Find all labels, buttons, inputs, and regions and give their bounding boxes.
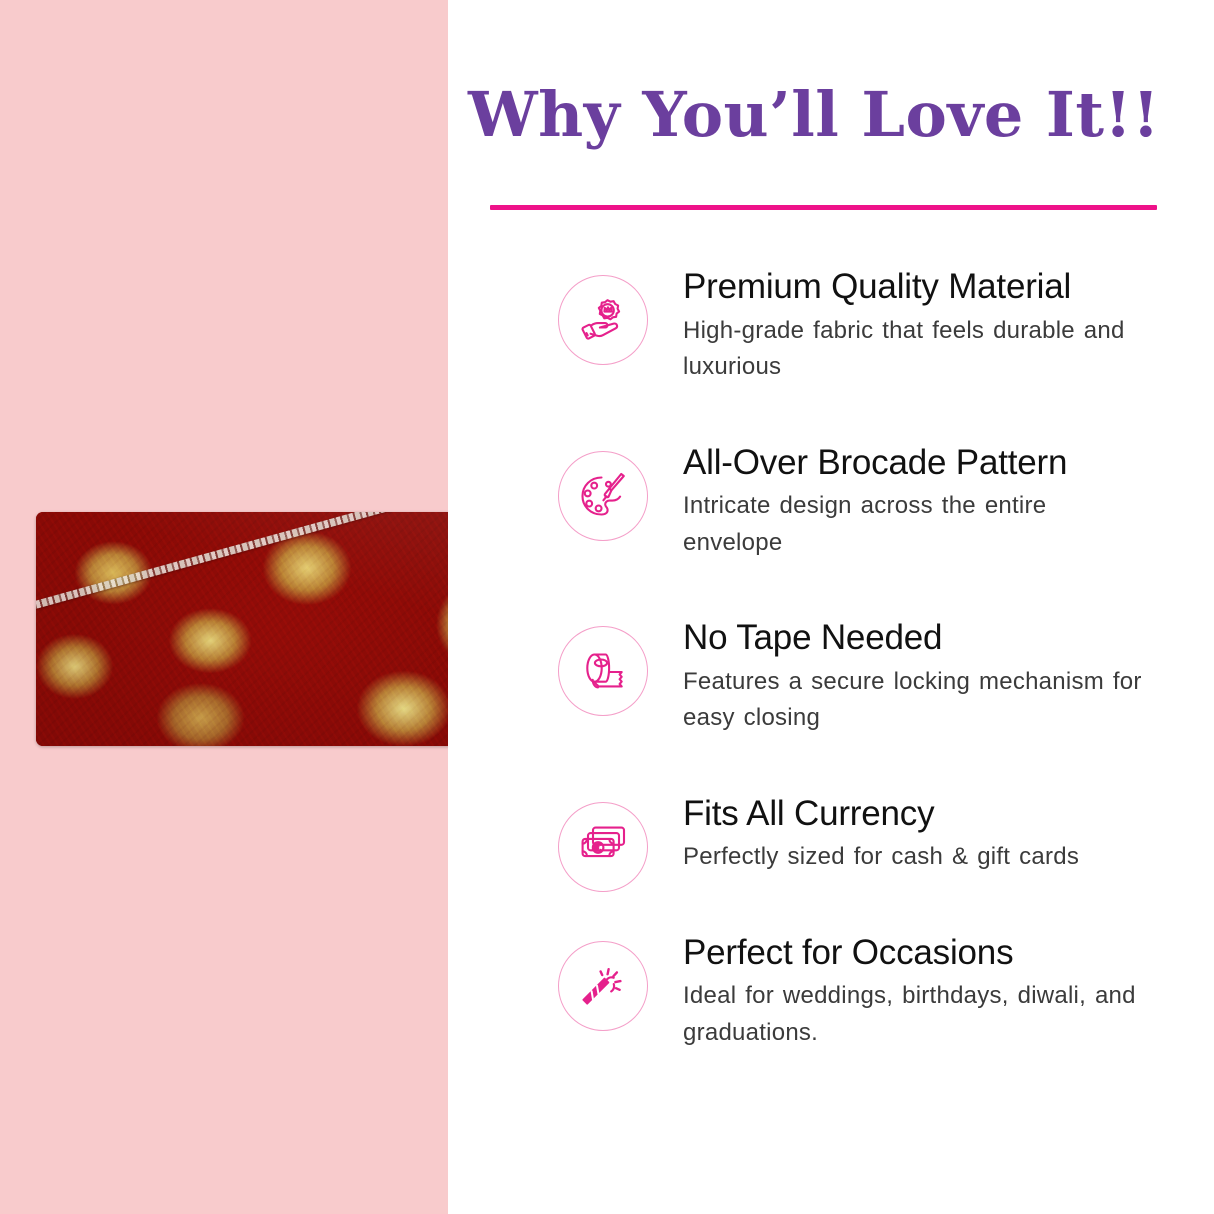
feature-title: Premium Quality Material	[683, 267, 1153, 308]
feature-description: Perfectly sized for cash & gift cards	[683, 839, 1153, 875]
feature-description: Ideal for weddings, birthdays, diwali, a…	[683, 978, 1153, 1051]
feature-text-block: All-Over Brocade Pattern Intricate desig…	[683, 441, 1153, 562]
title-underline-rule	[490, 205, 1157, 210]
feature-title: All-Over Brocade Pattern	[683, 443, 1153, 484]
feature-description: Intricate design across the entire envel…	[683, 488, 1153, 561]
feature-item-perfect-for-occasions: Perfect for Occasions Ideal for weddings…	[448, 931, 1214, 1052]
feature-item-premium-quality-material: Premium Quality Material High-grade fabr…	[448, 265, 1214, 386]
banknotes-euro-icon	[577, 821, 629, 873]
feature-item-all-over-brocade-pattern: All-Over Brocade Pattern Intricate desig…	[448, 441, 1214, 562]
feature-item-fits-all-currency: Fits All Currency Perfectly sized for ca…	[448, 792, 1214, 876]
feature-text-block: Fits All Currency Perfectly sized for ca…	[683, 792, 1153, 876]
feature-title: No Tape Needed	[683, 618, 1153, 659]
promo-infographic-page: Why You’ll Love It!!	[0, 0, 1214, 1214]
paint-palette-brush-icon	[577, 470, 629, 522]
hand-holding-quality-badge-icon	[577, 294, 629, 346]
feature-title: Perfect for Occasions	[683, 933, 1153, 974]
feature-item-no-tape-needed: No Tape Needed Features a secure locking…	[448, 616, 1214, 737]
tape-roll-icon	[577, 645, 629, 697]
right-content-panel: Why You’ll Love It!!	[448, 0, 1214, 1214]
party-popper-confetti-icon	[577, 960, 629, 1012]
feature-text-block: No Tape Needed Features a secure locking…	[683, 616, 1153, 737]
feature-text-block: Premium Quality Material High-grade fabr…	[683, 265, 1153, 386]
feature-icon-container	[558, 802, 648, 892]
feature-description: Features a secure locking mechanism for …	[683, 664, 1153, 737]
feature-list: Premium Quality Material High-grade fabr…	[448, 265, 1214, 1106]
feature-icon-container	[558, 941, 648, 1031]
feature-title: Fits All Currency	[683, 794, 1153, 835]
feature-text-block: Perfect for Occasions Ideal for weddings…	[683, 931, 1153, 1052]
feature-icon-container	[558, 275, 648, 365]
feature-icon-container	[558, 451, 648, 541]
feature-icon-container	[558, 626, 648, 716]
feature-description: High-grade fabric that feels durable and…	[683, 313, 1153, 386]
page-title: Why You’ll Love It!!	[448, 82, 1180, 147]
